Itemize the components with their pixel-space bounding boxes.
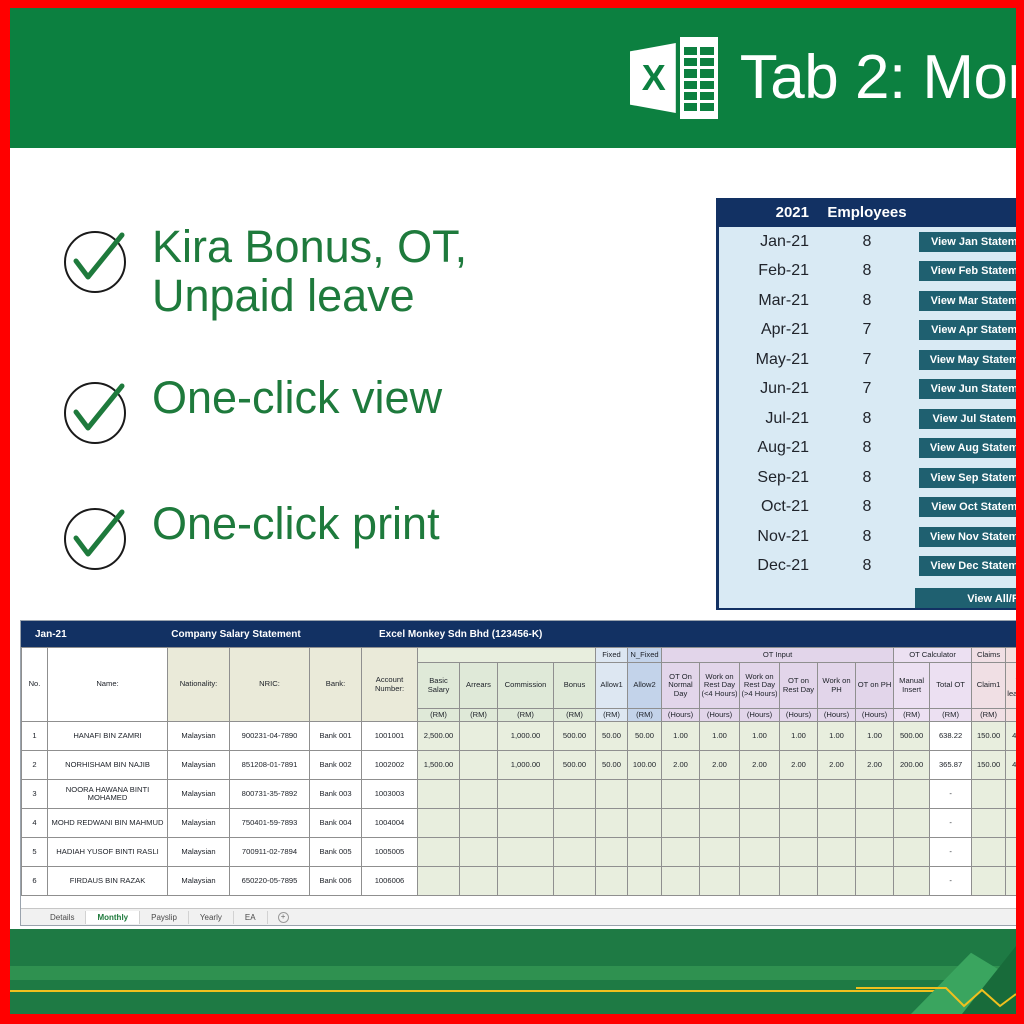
cell-allow2[interactable] (628, 780, 662, 809)
poster-frame: X Tab 2: Monthly Kira Bonus, OT, Unpaid … (10, 8, 1016, 1014)
cell-name[interactable]: MOHD REDWANI BIN MAHMUD (48, 809, 168, 838)
employee-count: 8 (819, 292, 915, 310)
unit-basic-salary: (RM) (418, 709, 460, 722)
month-label: Nov-21 (719, 528, 819, 546)
col-ot-normal-day: OT On Normal Day (662, 663, 700, 709)
view-statement-button[interactable]: View Mar Statement (919, 291, 1016, 311)
month-row: Oct-218View Oct Statement (719, 493, 1016, 523)
month-label: Oct-21 (719, 498, 819, 516)
view-statement-button[interactable]: View Sep Statement (919, 468, 1016, 488)
employee-count: 7 (819, 321, 915, 339)
month-label: Jan-21 (719, 233, 819, 251)
cell-manual-insert[interactable] (894, 838, 930, 867)
group-fixed: Fixed (596, 648, 628, 663)
sheet-title-bar: Jan-21 Company Salary Statement Excel Mo… (21, 621, 1016, 647)
view-statement-button[interactable]: View Dec Statement (919, 556, 1016, 576)
cell-no[interactable]: 4 (22, 809, 48, 838)
col-ot-on-ph: OT on PH (856, 663, 894, 709)
unit-claim1: (RM) (972, 709, 1006, 722)
view-statement-button[interactable]: View Apr Statement (919, 320, 1016, 340)
cell-total-ot[interactable]: 365.87 (930, 751, 972, 780)
plus-icon: + (278, 912, 289, 923)
cell-ot-on-ph[interactable] (856, 809, 894, 838)
group-ot-input: OT Input (662, 648, 894, 663)
cell-ot-normal-day[interactable]: 2.00 (662, 751, 700, 780)
view-all-refresh-button[interactable]: View All/Refre (915, 588, 1016, 610)
cell-allow2[interactable] (628, 838, 662, 867)
month-label: Jul-21 (719, 410, 819, 428)
month-row: Mar-218View Mar Statement (719, 286, 1016, 316)
sheet-tab-yearly[interactable]: Yearly (189, 911, 234, 924)
cell-ot-on-ph[interactable]: 1.00 (856, 722, 894, 751)
month-row: Jan-218View Jan Statement (719, 227, 1016, 257)
cell-absent-days[interactable]: 4.00 days (1006, 722, 1016, 751)
month-row: Aug-218View Aug Statement (719, 434, 1016, 464)
col-no: No. (22, 648, 48, 722)
cell-ot-rest-day[interactable] (780, 809, 818, 838)
month-label: May-21 (719, 351, 819, 369)
cell-account[interactable]: 1001001 (362, 722, 418, 751)
col-nric: NRIC: (230, 648, 310, 722)
view-statement-button[interactable]: View Feb Statement (919, 261, 1016, 281)
month-row: Sep-218View Sep Statement (719, 463, 1016, 493)
unit-work-rest-day-gt4: (Hours) (740, 709, 780, 722)
cell-manual-insert[interactable] (894, 809, 930, 838)
cell-allow1[interactable] (596, 780, 628, 809)
cell-nric[interactable]: 750401-59-7893 (230, 809, 310, 838)
cell-work-on-ph[interactable]: 1.00 (818, 722, 856, 751)
check-circle-icon (62, 504, 130, 572)
cell-absent-days[interactable] (1006, 838, 1016, 867)
month-label: Apr-21 (719, 321, 819, 339)
cell-arrears[interactable] (460, 751, 498, 780)
cell-allow1[interactable]: 50.00 (596, 722, 628, 751)
cell-work-rest-day-lt4[interactable] (700, 809, 740, 838)
cell-allow2[interactable]: 100.00 (628, 751, 662, 780)
cell-arrears[interactable] (460, 838, 498, 867)
check-circle-icon (62, 378, 130, 446)
cell-claim1[interactable]: 150.00 (972, 751, 1006, 780)
employee-count: 8 (819, 439, 915, 457)
feature-item: One-click view (62, 374, 682, 446)
cell-absent-days[interactable] (1006, 780, 1016, 809)
col-work-rest-day-gt4: Work on Rest Day (>4 Hours) (740, 663, 780, 709)
table-row: 4MOHD REDWANI BIN MAHMUDMalaysian750401-… (22, 809, 1017, 838)
cell-bank[interactable]: Bank 004 (310, 809, 362, 838)
cell-allow1[interactable] (596, 809, 628, 838)
header-content: X Tab 2: Monthly (630, 37, 1016, 119)
cell-ot-normal-day[interactable] (662, 780, 700, 809)
cell-allow1[interactable] (596, 867, 628, 896)
group-n-fixed: N_Fixed (628, 648, 662, 663)
unit-commission: (RM) (498, 709, 554, 722)
cell-manual-insert[interactable] (894, 867, 930, 896)
cell-claim1[interactable] (972, 867, 1006, 896)
cell-nationality[interactable]: Malaysian (168, 751, 230, 780)
employee-count: 8 (819, 498, 915, 516)
view-statement-button[interactable]: View Jul Statement (919, 409, 1016, 429)
cell-no[interactable]: 2 (22, 751, 48, 780)
month-row: May-217View May Statement (719, 345, 1016, 375)
unit-arrears: (RM) (460, 709, 498, 722)
month-row: Apr-217View Apr Statement (719, 316, 1016, 346)
cell-basic-salary[interactable]: 2,500.00 (418, 722, 460, 751)
footer-decoration (10, 929, 1016, 1014)
cell-no[interactable]: 3 (22, 780, 48, 809)
unit-work-on-ph: (Hours) (818, 709, 856, 722)
cell-allow2[interactable] (628, 809, 662, 838)
view-statement-button[interactable]: View Oct Statement (919, 497, 1016, 517)
feature-item: One-click print (62, 500, 682, 572)
cell-commission[interactable] (498, 867, 554, 896)
cell-ot-on-ph[interactable]: 2.00 (856, 751, 894, 780)
cell-bonus[interactable]: 500.00 (554, 722, 596, 751)
cell-name[interactable]: NORHISHAM BIN NAJIB (48, 751, 168, 780)
cell-work-rest-day-lt4[interactable] (700, 867, 740, 896)
employee-count: 7 (819, 380, 915, 398)
cell-total-ot[interactable]: - (930, 780, 972, 809)
month-row: Dec-218View Dec Statement (719, 552, 1016, 582)
group-ot-calculator: OT Calculator (894, 648, 972, 663)
cell-work-on-ph[interactable]: 2.00 (818, 751, 856, 780)
group-header-row: No. Name: Nationality: NRIC: Bank: Accou… (22, 648, 1017, 663)
month-label: Dec-21 (719, 557, 819, 575)
cell-name[interactable]: HADIAH YUSOF BINTI RASLI (48, 838, 168, 867)
salary-table-body: 1HANAFI BIN ZAMRIMalaysian900231-04-7890… (22, 722, 1017, 896)
cell-ot-on-ph[interactable] (856, 780, 894, 809)
unit-ot-rest-day: (Hours) (780, 709, 818, 722)
group-earnings (418, 648, 596, 663)
cell-nationality[interactable]: Malaysian (168, 809, 230, 838)
col-total-ot: Total OT (930, 663, 972, 709)
col-account-number: Account Number: (362, 648, 418, 722)
cell-nationality[interactable]: Malaysian (168, 722, 230, 751)
year-header: 2021 (719, 204, 819, 221)
table-row: 5HADIAH YUSOF BINTI RASLIMalaysian700911… (22, 838, 1017, 867)
cell-account[interactable]: 1002002 (362, 751, 418, 780)
month-row: Feb-218View Feb Statement (719, 257, 1016, 287)
col-ot-rest-day: OT on Rest Day (780, 663, 818, 709)
col-absent-days: Absent/ Unpaid leave (Days) (1006, 663, 1016, 709)
cell-bonus[interactable] (554, 809, 596, 838)
col-work-rest-day-lt4: Work on Rest Day (<4 Hours) (700, 663, 740, 709)
employee-count: 7 (819, 351, 915, 369)
cell-bonus[interactable] (554, 780, 596, 809)
unit-allow1: (RM) (596, 709, 628, 722)
cell-total-ot[interactable]: - (930, 867, 972, 896)
cell-ot-normal-day[interactable]: 1.00 (662, 722, 700, 751)
cell-no[interactable]: 1 (22, 722, 48, 751)
cell-basic-salary[interactable]: 1,500.00 (418, 751, 460, 780)
page-title: Tab 2: Monthly (740, 47, 1016, 109)
feature-label: One-click view (152, 374, 442, 423)
cell-bank[interactable]: Bank 005 (310, 838, 362, 867)
cell-bonus[interactable]: 500.00 (554, 751, 596, 780)
unit-allow2: (RM) (628, 709, 662, 722)
sheet-title-month: Jan-21 (21, 629, 121, 640)
salary-table: No. Name: Nationality: NRIC: Bank: Accou… (21, 647, 1016, 896)
cell-work-rest-day-lt4[interactable]: 2.00 (700, 751, 740, 780)
check-circle-icon (62, 227, 130, 295)
cell-nric[interactable]: 800731-35-7892 (230, 780, 310, 809)
view-statement-button[interactable]: View Nov Statement (919, 527, 1016, 547)
cell-ot-normal-day[interactable] (662, 809, 700, 838)
view-all-row: View All/Refre (719, 584, 1016, 610)
cell-bank[interactable]: Bank 006 (310, 867, 362, 896)
cell-nationality[interactable]: Malaysian (168, 780, 230, 809)
cell-absent-days[interactable]: 4.00 days (1006, 751, 1016, 780)
cell-work-rest-day-gt4[interactable] (740, 809, 780, 838)
cell-manual-insert[interactable]: 500.00 (894, 722, 930, 751)
cell-work-rest-day-gt4[interactable] (740, 867, 780, 896)
cell-allow2[interactable]: 50.00 (628, 722, 662, 751)
cell-manual-insert[interactable]: 200.00 (894, 751, 930, 780)
month-row: Jul-218View Jul Statement (719, 404, 1016, 434)
month-panel-header: 2021 Employees (719, 198, 1016, 227)
cell-arrears[interactable] (460, 809, 498, 838)
cell-work-rest-day-lt4[interactable]: 1.00 (700, 722, 740, 751)
sheet-title-company: Excel Monkey Sdn Bhd (123456-K) (351, 629, 542, 640)
month-rows: Jan-218View Jan StatementFeb-218View Feb… (719, 227, 1016, 581)
cell-ot-rest-day[interactable]: 2.00 (780, 751, 818, 780)
add-sheet-button[interactable]: + (268, 912, 299, 923)
month-label: Jun-21 (719, 380, 819, 398)
cell-nric[interactable]: 700911-02-7894 (230, 838, 310, 867)
month-label: Feb-21 (719, 262, 819, 280)
cell-claim1[interactable]: 150.00 (972, 722, 1006, 751)
cell-work-on-ph[interactable] (818, 809, 856, 838)
spreadsheet: Jan-21 Company Salary Statement Excel Mo… (20, 620, 1016, 926)
month-statement-panel: 2021 Employees Jan-218View Jan Statement… (716, 198, 1016, 610)
cell-work-rest-day-gt4[interactable] (740, 838, 780, 867)
cell-claim1[interactable] (972, 838, 1006, 867)
cell-allow2[interactable] (628, 867, 662, 896)
month-label: Mar-21 (719, 292, 819, 310)
cell-name[interactable]: NOORA HAWANA BINTI MOHAMED (48, 780, 168, 809)
col-name: Name: (48, 648, 168, 722)
cell-total-ot[interactable]: - (930, 809, 972, 838)
col-nationality: Nationality: (168, 648, 230, 722)
cell-manual-insert[interactable] (894, 780, 930, 809)
cell-nationality[interactable]: Malaysian (168, 867, 230, 896)
cell-nric[interactable]: 851208-01-7891 (230, 751, 310, 780)
employee-count: 8 (819, 233, 915, 251)
cell-no[interactable]: 5 (22, 838, 48, 867)
cell-arrears[interactable] (460, 867, 498, 896)
group-claims: Claims (972, 648, 1006, 663)
cell-work-rest-day-gt4[interactable]: 1.00 (740, 722, 780, 751)
employee-count: 8 (819, 410, 915, 428)
unit-work-rest-day-lt4: (Hours) (700, 709, 740, 722)
month-row: Jun-217View Jun Statement (719, 375, 1016, 405)
cell-allow1[interactable]: 50.00 (596, 751, 628, 780)
cell-ot-on-ph[interactable] (856, 838, 894, 867)
cell-no[interactable]: 6 (22, 867, 48, 896)
col-work-on-ph: Work on PH (818, 663, 856, 709)
cell-name[interactable]: FIRDAUS BIN RAZAK (48, 867, 168, 896)
cell-claim1[interactable] (972, 780, 1006, 809)
cell-absent-days[interactable] (1006, 867, 1016, 896)
unit-bonus: (RM) (554, 709, 596, 722)
sheet-tab-ea[interactable]: EA (234, 911, 268, 924)
cell-account[interactable]: 1004004 (362, 809, 418, 838)
cell-basic-salary[interactable] (418, 780, 460, 809)
col-bank: Bank: (310, 648, 362, 722)
unit-ot-normal-day: (Hours) (662, 709, 700, 722)
table-row: 3NOORA HAWANA BINTI MOHAMEDMalaysian8007… (22, 780, 1017, 809)
cell-work-rest-day-gt4[interactable]: 2.00 (740, 751, 780, 780)
cell-basic-salary[interactable] (418, 809, 460, 838)
cell-ot-normal-day[interactable] (662, 867, 700, 896)
cell-work-on-ph[interactable] (818, 867, 856, 896)
unit-absent-days: (Days) (1006, 709, 1016, 722)
group-absent (1006, 648, 1016, 663)
employee-count: 8 (819, 469, 915, 487)
cell-ot-normal-day[interactable] (662, 838, 700, 867)
cell-commission[interactable] (498, 838, 554, 867)
col-arrears: Arrears (460, 663, 498, 709)
view-statement-button[interactable]: View Jun Statement (919, 379, 1016, 399)
cell-nationality[interactable]: Malaysian (168, 838, 230, 867)
cell-commission[interactable]: 1,000.00 (498, 751, 554, 780)
sheet-tab-payslip[interactable]: Payslip (140, 911, 189, 924)
cell-total-ot[interactable]: - (930, 838, 972, 867)
cell-bank[interactable]: Bank 002 (310, 751, 362, 780)
employee-count: 8 (819, 528, 915, 546)
cell-name[interactable]: HANAFI BIN ZAMRI (48, 722, 168, 751)
view-statement-button[interactable]: View May Statement (919, 350, 1016, 370)
feature-label: One-click print (152, 500, 440, 549)
sheet-tab-bar: DetailsMonthlyPayslipYearlyEA+ (21, 908, 1016, 925)
cell-total-ot[interactable]: 638.22 (930, 722, 972, 751)
month-label: Aug-21 (719, 439, 819, 457)
table-row: 1HANAFI BIN ZAMRIMalaysian900231-04-7890… (22, 722, 1017, 751)
col-bonus: Bonus (554, 663, 596, 709)
view-statement-button[interactable]: View Aug Statement (919, 438, 1016, 458)
feature-list: Kira Bonus, OT, Unpaid leave One-click v… (62, 223, 682, 626)
col-basic-salary: Basic Salary (418, 663, 460, 709)
cell-account[interactable]: 1005005 (362, 838, 418, 867)
cell-ot-rest-day[interactable] (780, 780, 818, 809)
col-claim1: Claim1 (972, 663, 1006, 709)
cell-absent-days[interactable] (1006, 809, 1016, 838)
feature-label: Kira Bonus, OT, Unpaid leave (152, 223, 467, 320)
unit-ot-on-ph: (Hours) (856, 709, 894, 722)
cell-arrears[interactable] (460, 780, 498, 809)
feature-item: Kira Bonus, OT, Unpaid leave (62, 223, 682, 320)
employee-count: 8 (819, 557, 915, 575)
col-commission: Commission (498, 663, 554, 709)
gold-zigzag-icon (856, 984, 1016, 1010)
sheet-tab-monthly[interactable]: Monthly (86, 911, 140, 924)
cell-ot-rest-day[interactable] (780, 838, 818, 867)
cell-commission[interactable] (498, 809, 554, 838)
sheet-tab-details[interactable]: Details (39, 911, 86, 924)
table-row: 2NORHISHAM BIN NAJIBMalaysian851208-01-7… (22, 751, 1017, 780)
employee-count: 8 (819, 262, 915, 280)
excel-logo-letter: X (630, 43, 676, 113)
unit-manual-insert: (RM) (894, 709, 930, 722)
cell-basic-salary[interactable] (418, 838, 460, 867)
header-banner: X Tab 2: Monthly (10, 8, 1016, 148)
month-row: Nov-218View Nov Statement (719, 522, 1016, 552)
unit-total-ot: (RM) (930, 709, 972, 722)
cell-work-on-ph[interactable] (818, 838, 856, 867)
cell-work-rest-day-gt4[interactable] (740, 780, 780, 809)
cell-claim1[interactable] (972, 809, 1006, 838)
cell-work-rest-day-lt4[interactable] (700, 780, 740, 809)
cell-allow1[interactable] (596, 838, 628, 867)
cell-commission[interactable] (498, 780, 554, 809)
employees-header: Employees (819, 204, 915, 221)
cell-bonus[interactable] (554, 867, 596, 896)
table-row: 6FIRDAUS BIN RAZAKMalaysian650220-05-789… (22, 867, 1017, 896)
month-label: Sep-21 (719, 469, 819, 487)
cell-ot-rest-day[interactable]: 1.00 (780, 722, 818, 751)
sheet-title-main: Company Salary Statement (121, 629, 351, 640)
cell-bonus[interactable] (554, 838, 596, 867)
col-allow1: Allow1 (596, 663, 628, 709)
cell-work-on-ph[interactable] (818, 780, 856, 809)
cell-nric[interactable]: 650220-05-7895 (230, 867, 310, 896)
cell-bank[interactable]: Bank 003 (310, 780, 362, 809)
cell-arrears[interactable] (460, 722, 498, 751)
excel-logo-icon: X (630, 37, 718, 119)
cell-work-rest-day-lt4[interactable] (700, 838, 740, 867)
cell-ot-rest-day[interactable] (780, 867, 818, 896)
col-allow2: Allow2 (628, 663, 662, 709)
view-statement-button[interactable]: View Jan Statement (919, 232, 1016, 252)
cell-nric[interactable]: 900231-04-7890 (230, 722, 310, 751)
cell-commission[interactable]: 1,000.00 (498, 722, 554, 751)
cell-ot-on-ph[interactable] (856, 867, 894, 896)
cell-bank[interactable]: Bank 001 (310, 722, 362, 751)
col-manual-insert: Manual Insert (894, 663, 930, 709)
cell-basic-salary[interactable] (418, 867, 460, 896)
cell-account[interactable]: 1006006 (362, 867, 418, 896)
cell-account[interactable]: 1003003 (362, 780, 418, 809)
